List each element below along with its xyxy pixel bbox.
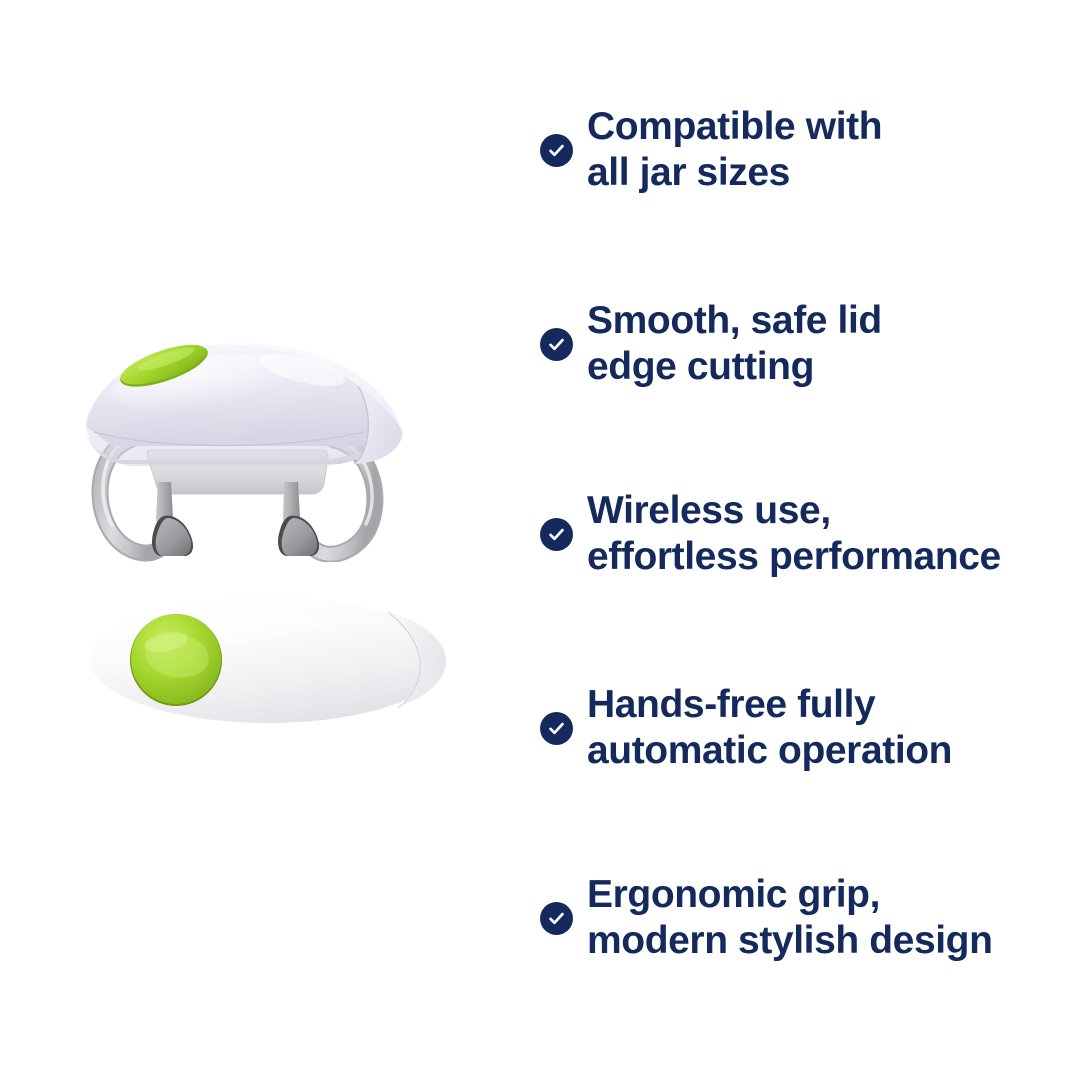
- feature-text: Ergonomic grip, modern stylish design: [587, 872, 993, 964]
- check-circle-icon: [540, 712, 573, 745]
- feature-text: Hands-free fully automatic operation: [587, 682, 952, 774]
- feature-item-ergonomic-grip-design: Ergonomic grip, modern stylish design: [540, 872, 1080, 964]
- feature-list: Compatible with all jar sizes Smooth, sa…: [540, 0, 1080, 1080]
- feature-text: Smooth, safe lid edge cutting: [587, 298, 882, 390]
- product-infographic: Compatible with all jar sizes Smooth, sa…: [0, 0, 1080, 1080]
- feature-item-wireless-effortless: Wireless use, effortless performance: [540, 488, 1080, 580]
- product-image-column: [0, 0, 520, 1080]
- feature-item-smooth-safe-lid-edge: Smooth, safe lid edge cutting: [540, 298, 1080, 390]
- check-circle-icon: [540, 328, 573, 361]
- check-circle-icon: [540, 518, 573, 551]
- check-circle-icon: [540, 134, 573, 167]
- feature-text: Compatible with all jar sizes: [587, 104, 882, 196]
- jar-opener-gripper-feet: [152, 516, 319, 556]
- feature-text: Wireless use, effortless performance: [587, 488, 1001, 580]
- jar-opener-shell: [86, 343, 402, 466]
- feature-item-compatible-jar-sizes: Compatible with all jar sizes: [540, 104, 1080, 196]
- product-image-jar-opener-side: [72, 322, 452, 562]
- feature-item-hands-free-automatic: Hands-free fully automatic operation: [540, 682, 1080, 774]
- product-image-jar-opener-top: [88, 588, 463, 733]
- check-circle-icon: [540, 902, 573, 935]
- jar-opener-power-button-top: [130, 614, 222, 706]
